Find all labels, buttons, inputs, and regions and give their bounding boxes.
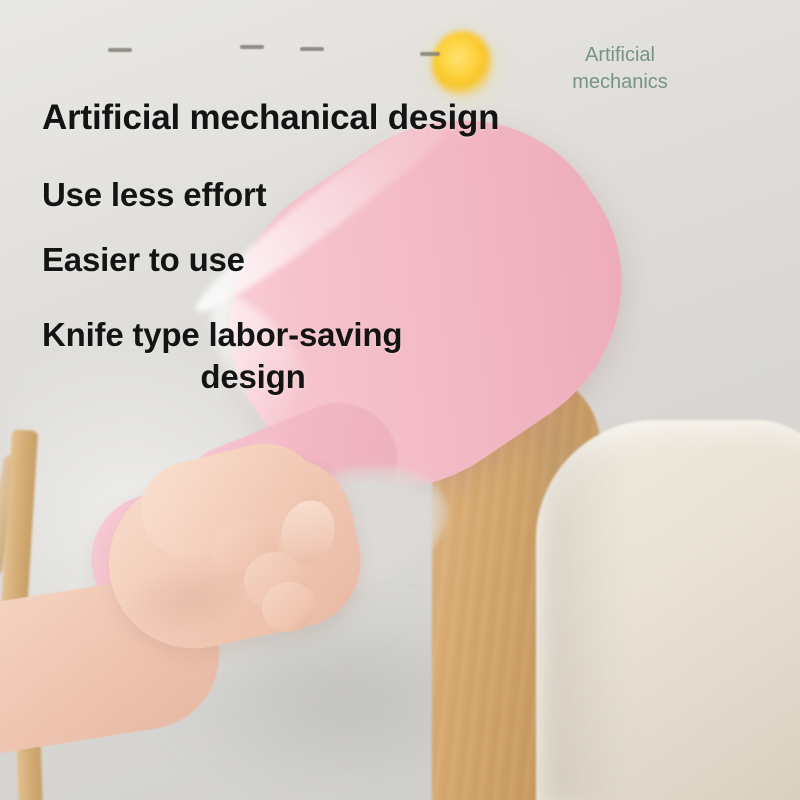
- feature-line-1: Knife type labor-saving: [42, 316, 402, 354]
- page-title: Artificial mechanical design: [42, 98, 499, 138]
- product-photo: Artificial mechanical design Use less ef…: [0, 0, 800, 800]
- watermark-line-1: Artificial: [553, 42, 687, 69]
- marketing-copy: Artificial mechanical design Use less ef…: [0, 0, 800, 800]
- benefit-line-2: Easier to use: [42, 241, 245, 279]
- benefit-line-1: Use less effort: [42, 176, 266, 214]
- feature-line-2: design: [42, 358, 464, 396]
- watermark: Artificial mechanics: [553, 42, 687, 96]
- watermark-line-2: mechanics: [553, 69, 687, 96]
